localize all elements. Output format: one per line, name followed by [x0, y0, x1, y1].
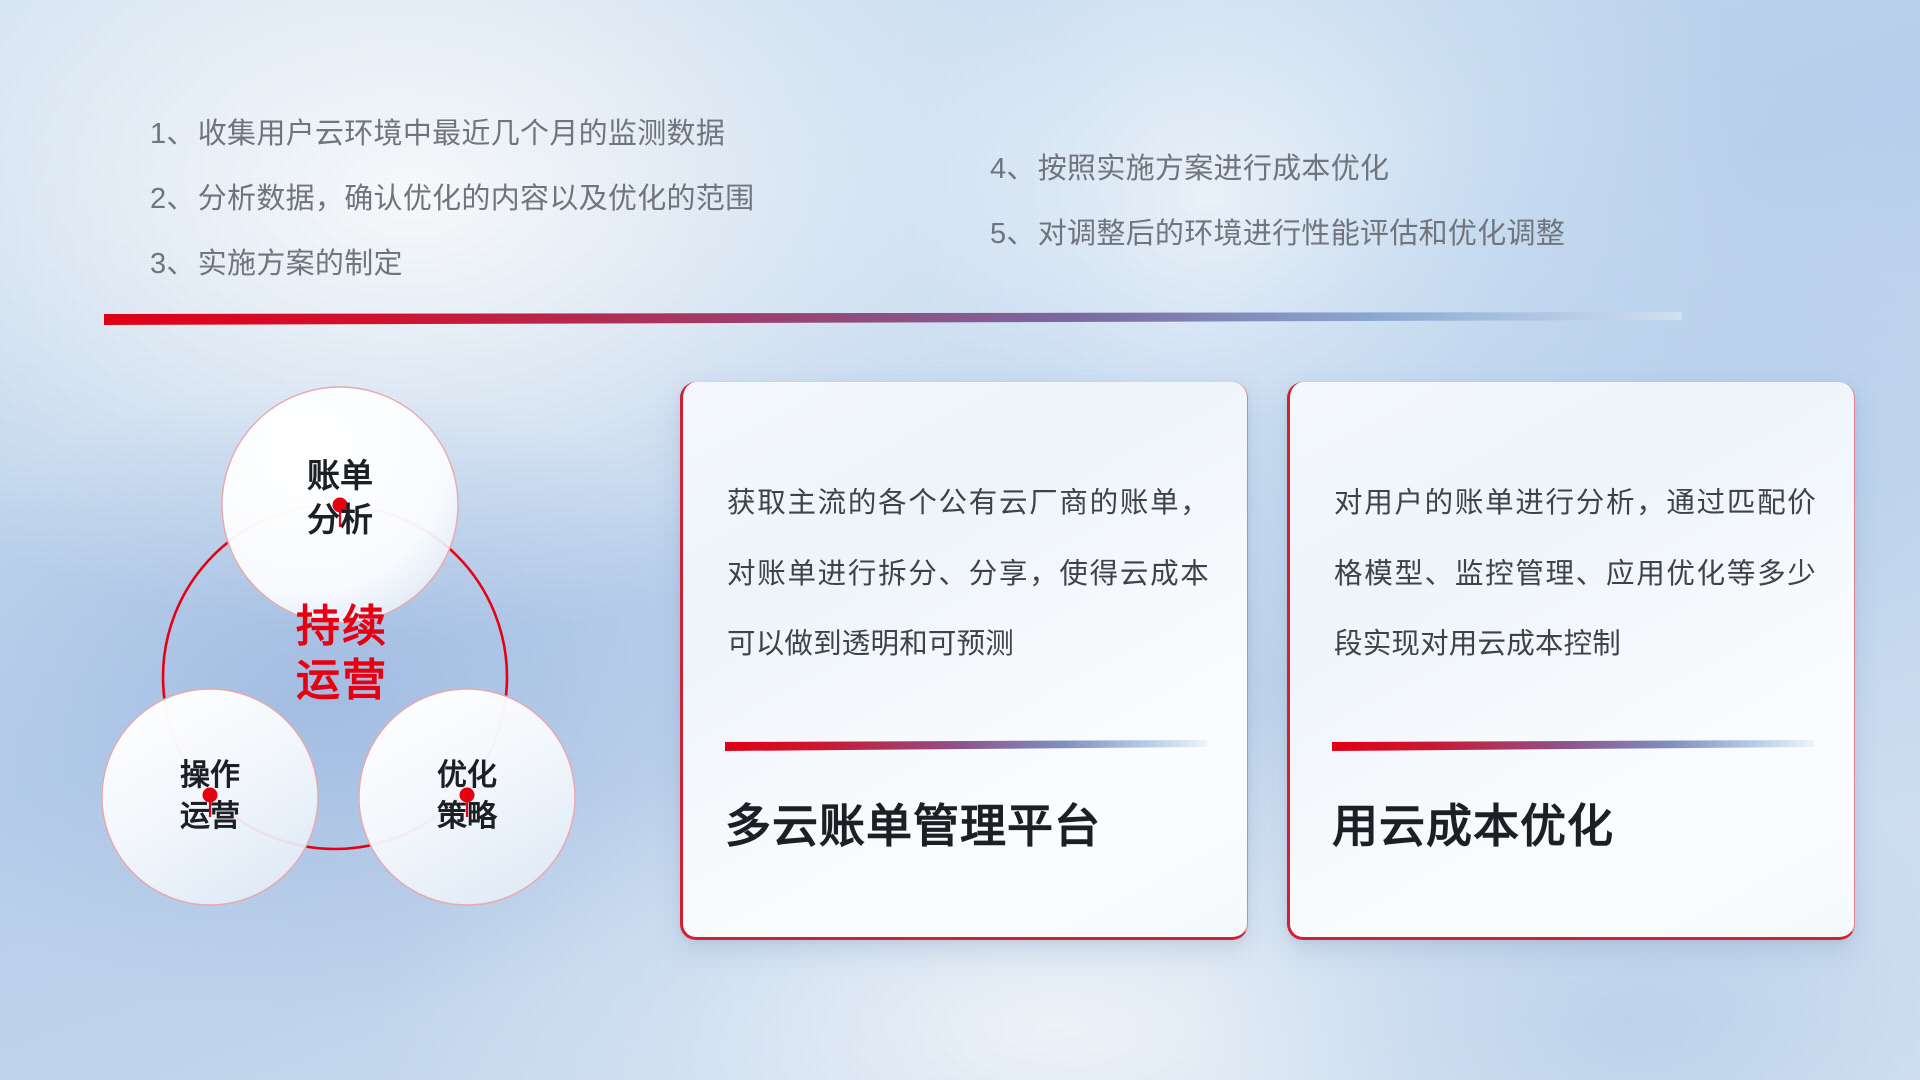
list-item-number: 3、: [150, 250, 196, 279]
list-item-label: 对调整后的环境进行性能评估和优化调整: [1038, 220, 1565, 249]
card-title: 用云成本优化: [1332, 790, 1834, 856]
list-item-number: 1、: [150, 120, 196, 149]
card-cloud-cost-optimization[interactable]: 对用户的账单进行分析，通过匹配价格模型、监控管理、应用优化等多少段实现对用云成本…: [1287, 382, 1855, 940]
card-divider: [725, 740, 1207, 752]
circle-optimization-label-2: 策略: [437, 799, 498, 833]
card-multicloud-billing-platform[interactable]: 获取主流的各个公有云厂商的账单，对账单进行拆分、分享，使得云成本可以做到透明和可…: [680, 382, 1248, 940]
card-body-text: 对用户的账单进行分析，通过匹配价格模型、监控管理、应用优化等多少段实现对用云成本…: [1334, 468, 1816, 680]
list-item-number: 2、: [150, 185, 196, 214]
list-item-number: 5、: [990, 220, 1036, 249]
list-item-label: 收集用户云环境中最近几个月的监测数据: [198, 120, 725, 149]
slide-canvas: 1、 收集用户云环境中最近几个月的监测数据 2、 分析数据，确认优化的内容以及优…: [0, 0, 1920, 1080]
section-divider: [104, 312, 1682, 326]
list-item-number: 4、: [990, 155, 1036, 184]
list-item: 5、 对调整后的环境进行性能评估和优化调整: [990, 220, 1565, 249]
circle-optimization-label-1: 优化: [437, 759, 497, 792]
card-title: 多云账单管理平台: [725, 790, 1227, 856]
center-label-line-2: 运营: [296, 656, 388, 705]
list-item: 3、 实施方案的制定: [150, 250, 754, 279]
list-item: 4、 按照实施方案进行成本优化: [990, 155, 1565, 184]
steps-right-column: 4、 按照实施方案进行成本优化 5、 对调整后的环境进行性能评估和优化调整: [990, 155, 1565, 285]
circle-operations-label-2: 运营: [180, 800, 240, 833]
list-item: 1、 收集用户云环境中最近几个月的监测数据: [150, 120, 754, 149]
card-divider: [1332, 740, 1814, 752]
steps-left-column: 1、 收集用户云环境中最近几个月的监测数据 2、 分析数据，确认优化的内容以及优…: [150, 120, 754, 315]
list-item-label: 分析数据，确认优化的内容以及优化的范围: [198, 185, 755, 214]
center-label-line-1: 持续: [296, 602, 388, 651]
circle-bill-analysis-label-1: 账单: [307, 457, 373, 494]
card-body-text: 获取主流的各个公有云厂商的账单，对账单进行拆分、分享，使得云成本可以做到透明和可…: [727, 468, 1209, 680]
circle-operations-label-1: 操作: [180, 759, 240, 792]
list-item: 2、 分析数据，确认优化的内容以及优化的范围: [150, 185, 754, 214]
continuous-operation-diagram: 账单 分析 操作 运营 优化 策略 持续 运营: [95, 345, 655, 960]
circle-bill-analysis-label-2: 分析: [307, 501, 373, 538]
list-item-label: 按照实施方案进行成本优化: [1038, 155, 1390, 184]
list-item-label: 实施方案的制定: [198, 250, 403, 279]
